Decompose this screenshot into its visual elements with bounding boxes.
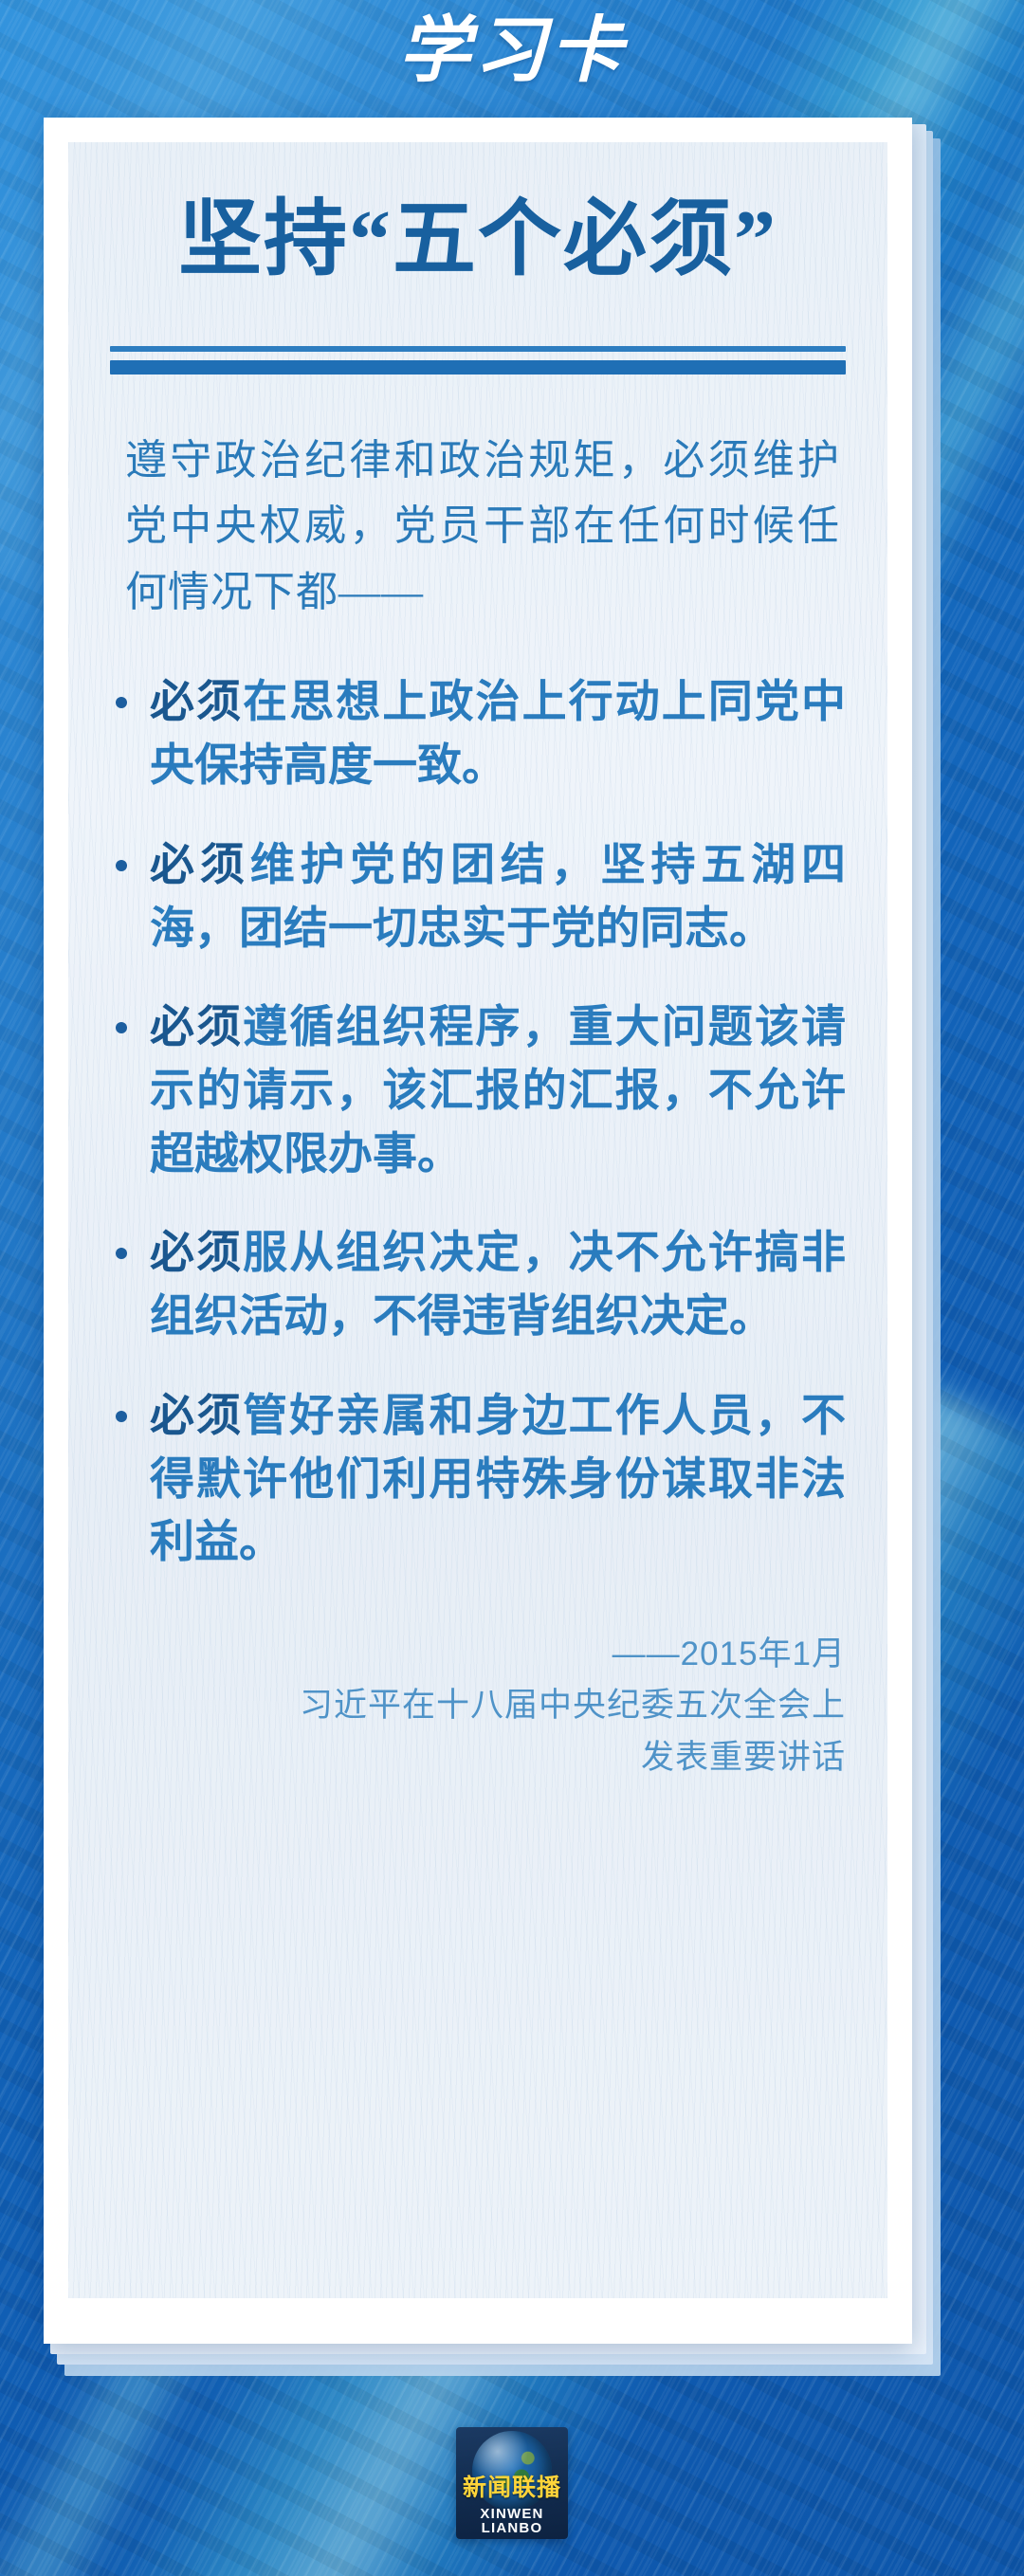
channel-logo: 新闻联播 XINWEN LIANBO: [456, 2427, 568, 2539]
must-list: 必须在思想上政治上行动上同党中央保持高度一致。 必须维护党的团结，坚持五湖四海，…: [110, 670, 846, 1574]
list-item-text: 维护党的团结，坚持五湖四海，团结一切忠实于党的同志。: [150, 839, 846, 953]
list-item-keyword: 必须: [150, 839, 250, 889]
card-content: 坚持“五个必须” 遵守政治纪律和政治规矩，必须维护党中央权威，党员干部在任何时候…: [110, 142, 846, 2298]
list-item-text: 在思想上政治上行动上同党中央保持高度一致。: [150, 676, 846, 790]
list-item-keyword: 必须: [150, 676, 243, 726]
channel-name-en: XINWEN LIANBO: [456, 2507, 568, 2535]
bullet-dot-icon: [116, 1248, 127, 1259]
list-item: 必须服从组织决定，决不允许搞非组织活动，不得违背组织决定。: [110, 1221, 846, 1347]
bullet-dot-icon: [116, 697, 127, 708]
bullet-dot-icon: [116, 1022, 127, 1033]
list-item-keyword: 必须: [150, 1390, 243, 1440]
list-item: 必须在思想上政治上行动上同党中央保持高度一致。: [110, 670, 846, 796]
attribution-date: ——2015年1月: [110, 1629, 846, 1680]
list-item-text: 管好亲属和身边工作人员，不得默许他们利用特殊身份谋取非法利益。: [150, 1390, 846, 1566]
divider-gap: [110, 352, 846, 360]
bullet-dot-icon: [116, 860, 127, 871]
list-item: 必须遵循组织程序，重大问题该请示的请示，该汇报的汇报，不允许超越权限办事。: [110, 996, 846, 1185]
poster-root: 学习卡 坚持“五个必须”: [0, 0, 1024, 2576]
channel-name-cn: 新闻联播: [456, 2476, 568, 2500]
list-item-text: 服从组织决定，决不允许搞非组织活动，不得违背组织决定。: [150, 1227, 846, 1341]
list-item-keyword: 必须: [150, 1227, 243, 1277]
card-stack: 坚持“五个必须” 遵守政治纪律和政治规矩，必须维护党中央权威，党员干部在任何时候…: [44, 118, 941, 2376]
footer: 新闻联播 XINWEN LIANBO: [0, 2427, 1024, 2550]
brand-logo-label: 学习卡: [370, 15, 654, 87]
attribution-speaker: 习近平在十八届中央纪委五次全会上: [110, 1680, 846, 1731]
bullet-dot-icon: [116, 1411, 127, 1422]
title-divider: [110, 346, 846, 375]
card-paper-surface: 坚持“五个必须” 遵守政治纪律和政治规矩，必须维护党中央权威，党员干部在任何时候…: [68, 142, 887, 2298]
attribution-event: 发表重要讲话: [110, 1732, 846, 1783]
list-item: 必须维护党的团结，坚持五湖四海，团结一切忠实于党的同志。: [110, 833, 846, 959]
page-title: 坚持“五个必须”: [110, 192, 846, 290]
divider-thick-line: [110, 360, 846, 375]
content-card: 坚持“五个必须” 遵守政治纪律和政治规矩，必须维护党中央权威，党员干部在任何时候…: [44, 118, 912, 2344]
intro-paragraph: 遵守政治纪律和政治规矩，必须维护党中央权威，党员干部在任何时候任何情况下都——: [125, 428, 840, 626]
list-item-keyword: 必须: [150, 1001, 243, 1051]
list-item: 必须管好亲属和身边工作人员，不得默许他们利用特殊身份谋取非法利益。: [110, 1384, 846, 1574]
source-attribution: ——2015年1月 习近平在十八届中央纪委五次全会上 发表重要讲话: [110, 1629, 846, 1783]
list-item-text: 遵循组织程序，重大问题该请示的请示，该汇报的汇报，不允许超越权限办事。: [150, 1001, 846, 1178]
